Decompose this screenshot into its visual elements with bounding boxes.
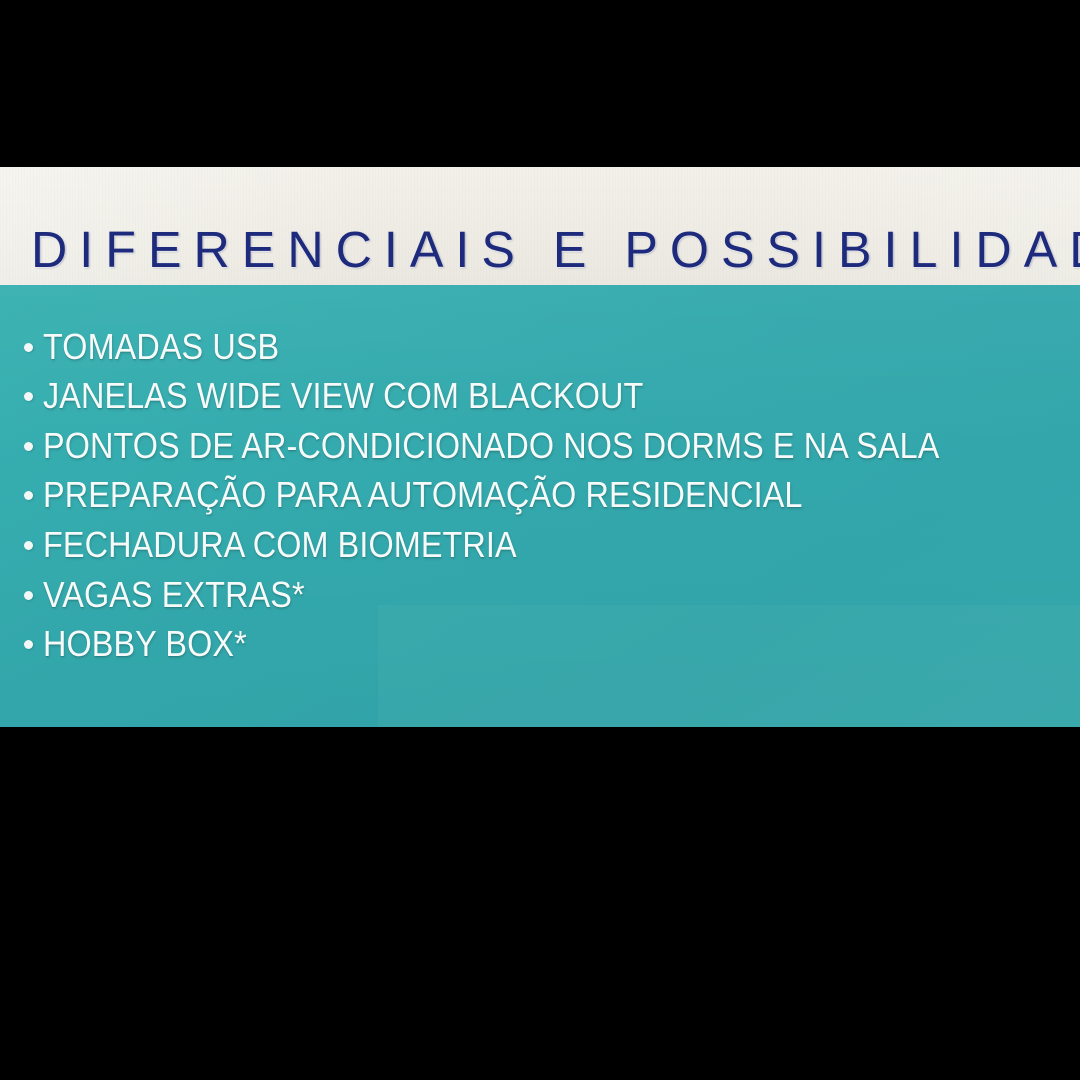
features-panel: TOMADAS USB JANELAS WIDE VIEW COM BLACKO…: [0, 285, 1080, 727]
list-item: TOMADAS USB: [24, 325, 306, 369]
list-item-label: TOMADAS USB: [43, 327, 279, 367]
list-item: FECHADURA COM BIOMETRIA: [24, 523, 569, 567]
list-item-label: FECHADURA COM BIOMETRIA: [43, 525, 517, 565]
bullet-dot-icon: [24, 591, 33, 600]
list-item: PREPARAÇÃO PARA AUTOMAÇÃO RESIDENCIAL: [24, 473, 887, 517]
panel-sheen-overlay: [378, 605, 1080, 727]
list-item: VAGAS EXTRAS*: [24, 573, 334, 617]
list-item-label: HOBBY BOX*: [43, 624, 247, 664]
bullet-dot-icon: [24, 541, 33, 550]
list-item-label: VAGAS EXTRAS*: [43, 575, 305, 615]
page-title: DIFERENCIAIS E POSSIBILIDADES: [31, 222, 1046, 278]
list-item-label: PREPARAÇÃO PARA AUTOMAÇÃO RESIDENCIAL: [43, 475, 803, 515]
list-item: PONTOS DE AR-CONDICIONADO NOS DORMS E NA…: [24, 424, 1039, 468]
bullet-dot-icon: [24, 640, 33, 649]
slide-root: DIFERENCIAIS E POSSIBILIDADES TOMADAS US…: [0, 0, 1080, 1080]
letterbox-bar-bottom: [0, 727, 1080, 1080]
letterbox-bar-top: [0, 0, 1080, 167]
list-item: JANELAS WIDE VIEW COM BLACKOUT: [24, 374, 710, 418]
bullet-dot-icon: [24, 343, 33, 352]
bullet-dot-icon: [24, 442, 33, 451]
list-item-label: JANELAS WIDE VIEW COM BLACKOUT: [43, 376, 643, 416]
bullet-dot-icon: [24, 491, 33, 500]
list-item-label: PONTOS DE AR-CONDICIONADO NOS DORMS E NA…: [43, 426, 939, 466]
bullet-dot-icon: [24, 392, 33, 401]
list-item: HOBBY BOX*: [24, 622, 269, 666]
